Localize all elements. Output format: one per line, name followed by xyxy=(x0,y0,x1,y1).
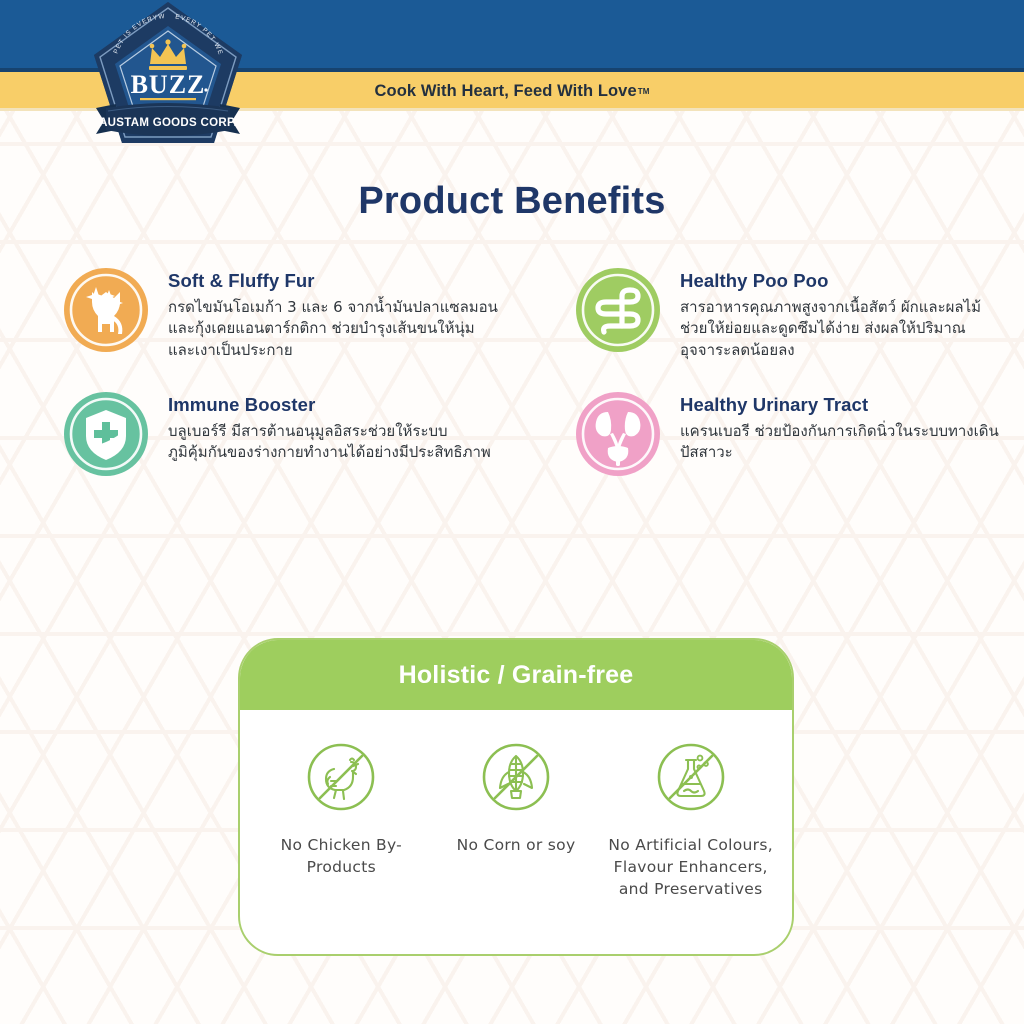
intestine-icon xyxy=(574,266,662,354)
benefits-row-2: Immune Booster บลูเบอร์รี มีสารต้านอนุมู… xyxy=(0,386,1024,478)
benefits-grid: Soft & Fluffy Fur กรดไขมันโอเมก้า 3 และ … xyxy=(0,262,1024,503)
holistic-item-label: No Artificial Colours, Flavour Enhancers… xyxy=(603,834,778,900)
holistic-item-label: No Chicken By-Products xyxy=(254,834,429,878)
benefit-description: แครนเบอรี ช่วยป้องกันการเกิดนิ่วในระบบทา… xyxy=(680,421,1010,464)
holistic-item-label: No Corn or soy xyxy=(457,834,576,856)
benefit-description: บลูเบอร์รี มีสารต้านอนุมูลอิสระช่วยให้ระ… xyxy=(168,421,498,464)
benefit-title: Healthy Urinary Tract xyxy=(680,394,1010,416)
benefit-title: Soft & Fluffy Fur xyxy=(168,270,498,292)
holistic-item-no-artificial: No Artificial Colours, Flavour Enhancers… xyxy=(603,736,778,900)
no-artificial-icon xyxy=(650,736,732,818)
benefits-row-1: Soft & Fluffy Fur กรดไขมันโอเมก้า 3 และ … xyxy=(0,262,1024,361)
logo-ribbon-text: AUSTAM GOODS CORP. xyxy=(99,117,237,129)
cat-sparkle-icon xyxy=(62,266,150,354)
page-title: Product Benefits xyxy=(0,180,1024,223)
no-corn-icon xyxy=(475,736,557,818)
benefit-title: Immune Booster xyxy=(168,394,498,416)
holistic-item-no-corn: No Corn or soy xyxy=(429,736,604,900)
trademark-symbol: TM xyxy=(638,87,650,96)
benefit-description: กรดไขมันโอเมก้า 3 และ 6 จากน้ำมันปลาแซลม… xyxy=(168,297,498,361)
benefit-text: Healthy Poo Poo สารอาหารคุณภาพสูงจากเนื้… xyxy=(680,262,1010,361)
benefit-title: Healthy Poo Poo xyxy=(680,270,1010,292)
logo-brand-text: BUZZ xyxy=(131,70,206,99)
brand-logo: PET IS EVERYWHERE EVERY PET WE CARE BUZZ… xyxy=(82,0,254,146)
kidney-urinary-icon xyxy=(574,390,662,478)
benefit-healthy-poo-poo: Healthy Poo Poo สารอาหารคุณภาพสูงจากเนื้… xyxy=(512,262,1024,361)
holistic-items: No Chicken By-Products xyxy=(240,710,792,900)
benefit-immune-booster: Immune Booster บลูเบอร์รี มีสารต้านอนุมู… xyxy=(0,386,512,478)
benefit-text: Soft & Fluffy Fur กรดไขมันโอเมก้า 3 และ … xyxy=(168,262,498,361)
holistic-item-no-chicken: No Chicken By-Products xyxy=(254,736,429,900)
tagline-text: Cook With Heart, Feed With Love xyxy=(375,82,637,101)
holistic-panel: Holistic / Grain-free xyxy=(238,638,794,956)
holistic-heading: Holistic / Grain-free xyxy=(240,640,792,710)
benefit-text: Immune Booster บลูเบอร์รี มีสารต้านอนุมู… xyxy=(168,386,498,464)
infographic-page: Cook With Heart, Feed With LoveTM PET IS… xyxy=(0,0,1024,1024)
no-chicken-icon xyxy=(300,736,382,818)
benefit-healthy-urinary-tract: Healthy Urinary Tract แครนเบอรี ช่วยป้อง… xyxy=(512,386,1024,478)
shield-plus-icon xyxy=(62,390,150,478)
benefit-soft-fluffy-fur: Soft & Fluffy Fur กรดไขมันโอเมก้า 3 และ … xyxy=(0,262,512,361)
benefit-description: สารอาหารคุณภาพสูงจากเนื้อสัตว์ ผักและผลไ… xyxy=(680,297,1010,361)
benefit-text: Healthy Urinary Tract แครนเบอรี ช่วยป้อง… xyxy=(680,386,1010,464)
